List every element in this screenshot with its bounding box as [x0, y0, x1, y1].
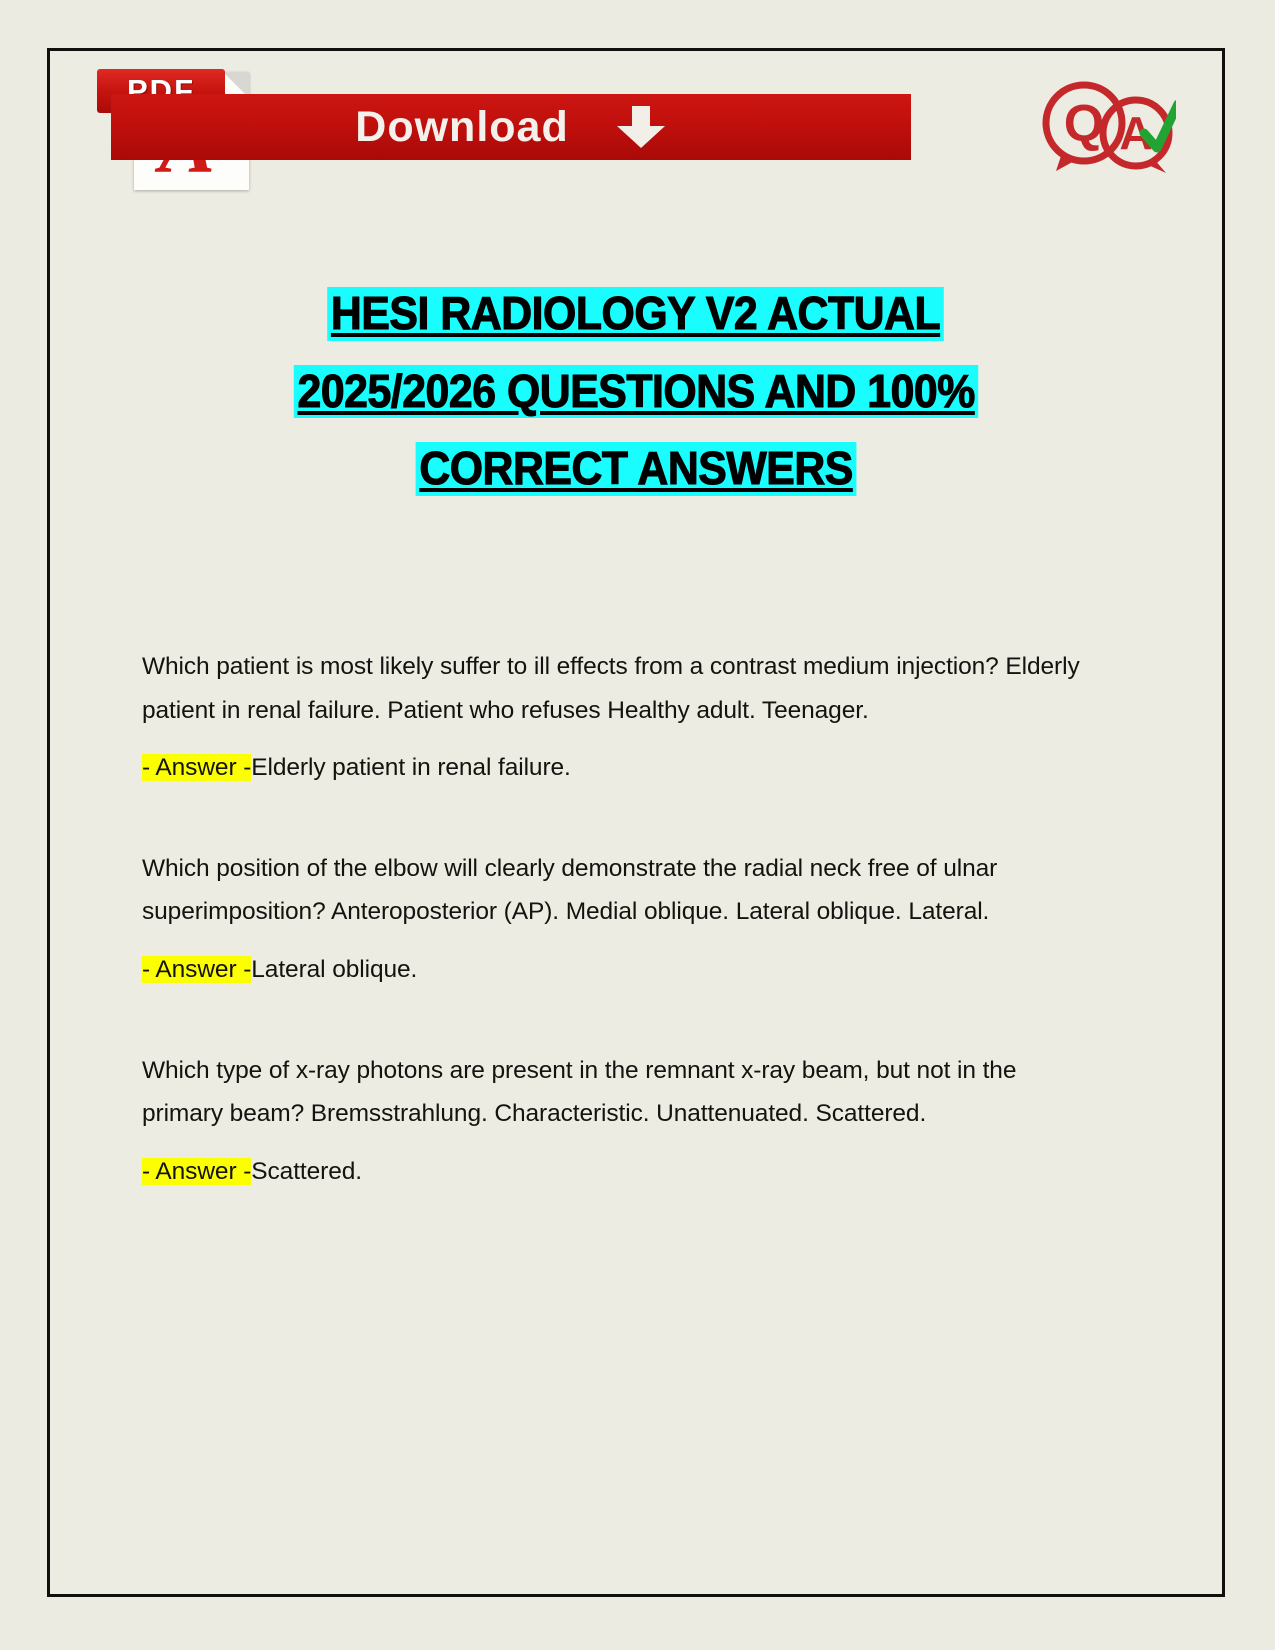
answer-label: - Answer - — [142, 1158, 251, 1185]
answer-text: Elderly patient in renal failure. — [251, 754, 570, 781]
answer-line: - Answer -Elderly patient in renal failu… — [142, 746, 1084, 790]
qa-block: Which type of x-ray photons are present … — [142, 1049, 1084, 1194]
download-button[interactable]: Download — [111, 94, 911, 160]
answer-text: Scattered. — [251, 1158, 362, 1185]
question-text: Which type of x-ray photons are present … — [142, 1049, 1084, 1136]
question-text: Which position of the elbow will clearly… — [142, 847, 1084, 934]
qa-content: Which patient is most likely suffer to i… — [142, 645, 1084, 1250]
qa-logo: Q A — [1026, 71, 1176, 186]
qa-block: Which patient is most likely suffer to i… — [142, 645, 1084, 790]
document-page: A PDF Download Q A HESI RADIOLOGY V2 ACT… — [47, 48, 1225, 1597]
download-label: Download — [355, 103, 568, 152]
page-title: HESI RADIOLOGY V2 ACTUAL 2025/2026 QUEST… — [50, 287, 1222, 520]
answer-line: - Answer -Scattered. — [142, 1150, 1084, 1194]
title-line-3: CORRECT ANSWERS — [50, 442, 1222, 496]
answer-text: Lateral oblique. — [251, 956, 417, 983]
title-line-1: HESI RADIOLOGY V2 ACTUAL — [50, 287, 1222, 341]
svg-text:Q: Q — [1064, 95, 1104, 153]
qa-block: Which position of the elbow will clearly… — [142, 847, 1084, 992]
answer-line: - Answer -Lateral oblique. — [142, 948, 1084, 992]
title-line-2: 2025/2026 QUESTIONS AND 100% — [50, 365, 1222, 419]
answer-label: - Answer - — [142, 754, 251, 781]
document-header: A PDF Download Q A — [50, 51, 1222, 201]
answer-label: - Answer - — [142, 956, 251, 983]
question-text: Which patient is most likely suffer to i… — [142, 645, 1084, 732]
download-arrow-icon — [615, 104, 667, 150]
